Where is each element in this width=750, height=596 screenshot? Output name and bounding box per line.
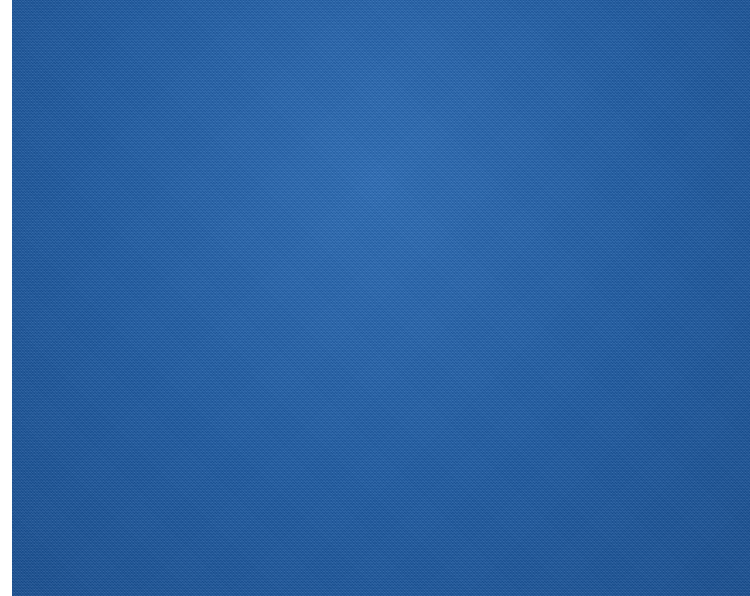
product-parameter-page: LP series Waterproof connector PRODUCT P… <box>0 0 750 596</box>
frame-edge-left <box>0 0 12 596</box>
